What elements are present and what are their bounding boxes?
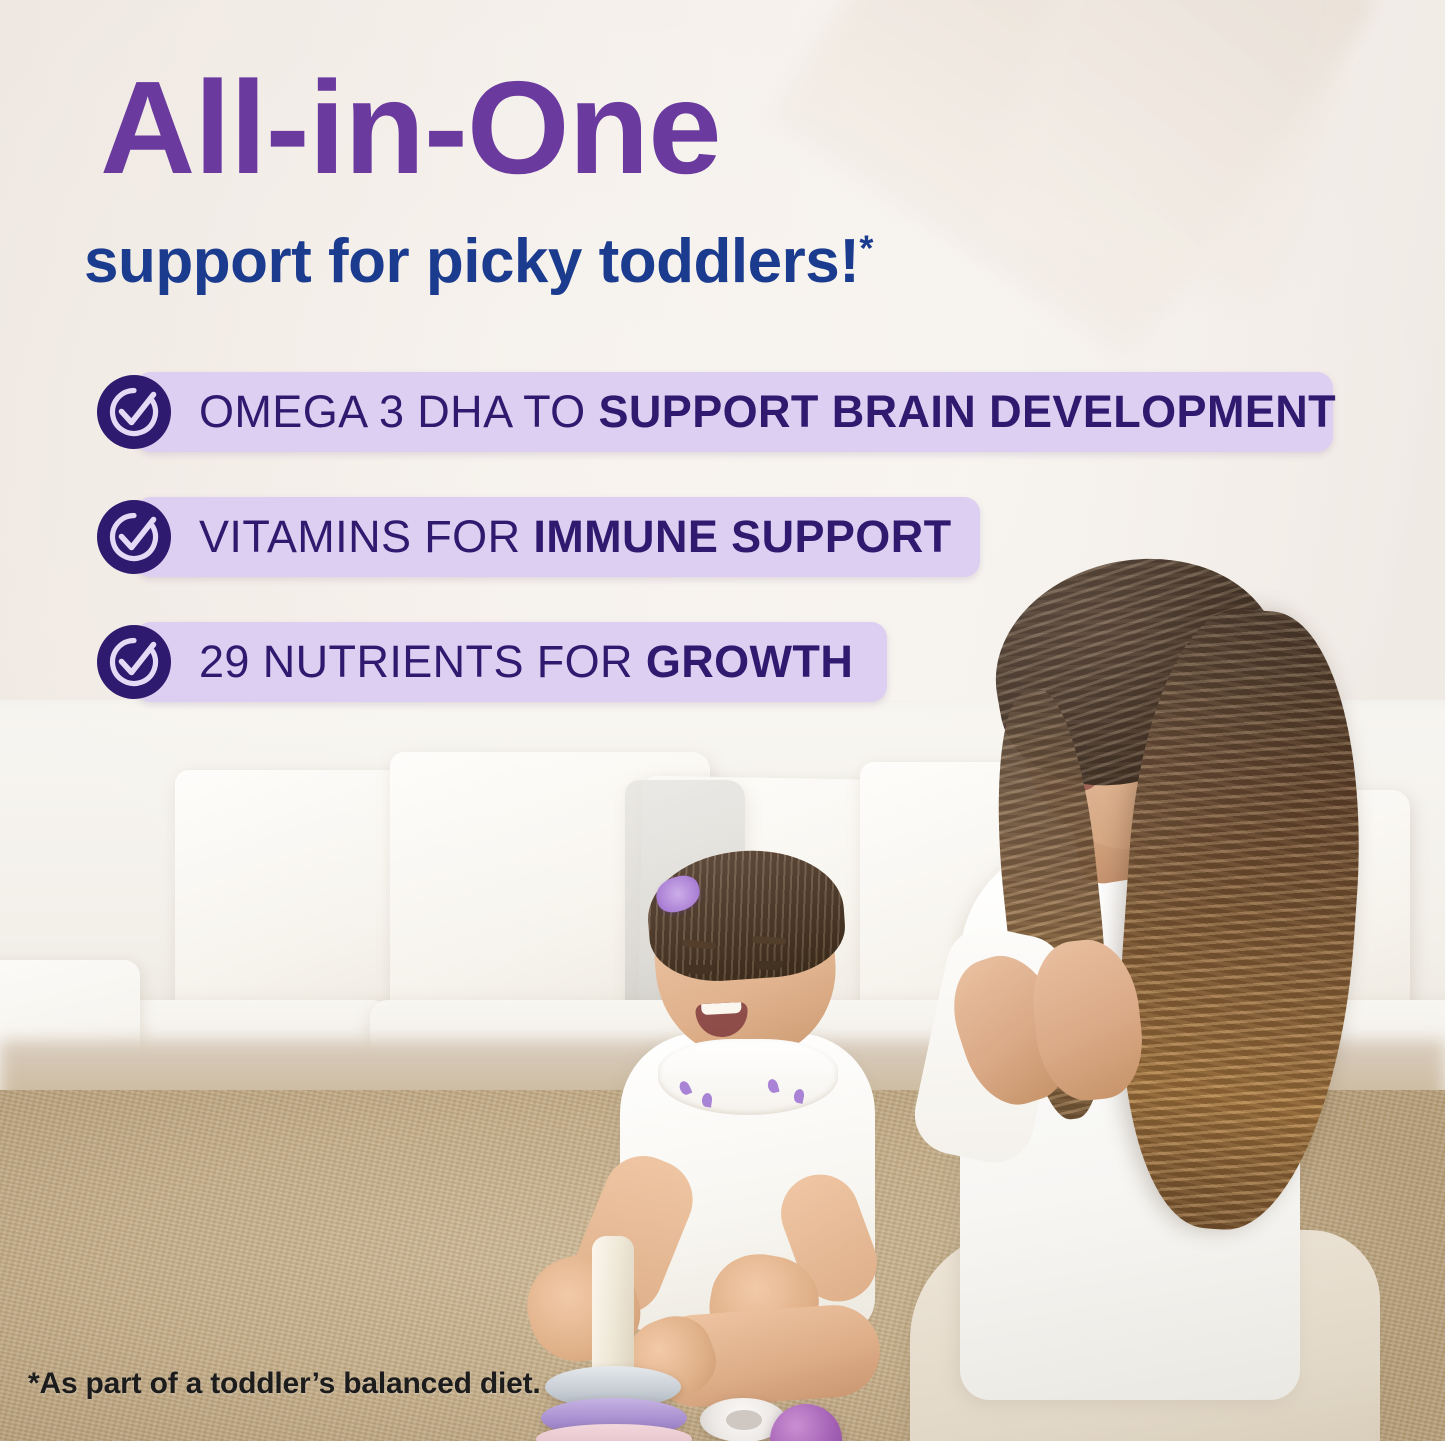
benefit-text: VITAMINS FOR IMMUNE SUPPORT <box>199 511 952 563</box>
check-circle-icon <box>95 373 173 451</box>
benefit-item-nutrients: 29 NUTRIENTS FOR GROWTH <box>95 616 1355 708</box>
benefit-text-regular: 29 NUTRIENTS FOR <box>199 636 646 687</box>
toddler-collar <box>658 1039 838 1115</box>
benefit-text: 29 NUTRIENTS FOR GROWTH <box>199 636 853 688</box>
benefit-list: OMEGA 3 DHA TO SUPPORT BRAIN DEVELOPMENT… <box>95 366 1355 741</box>
toddler-figure <box>500 855 930 1441</box>
benefit-text: OMEGA 3 DHA TO SUPPORT BRAIN DEVELOPMENT <box>199 386 1336 438</box>
toddler-eye <box>684 965 714 974</box>
benefit-text-bold: GROWTH <box>646 636 853 687</box>
subheadline-asterisk: * <box>859 227 873 268</box>
toddler-hair <box>644 844 848 985</box>
benefit-text-bold: IMMUNE SUPPORT <box>533 511 951 562</box>
check-circle-icon <box>95 623 173 701</box>
subheadline-text: support for picky toddlers! <box>84 227 859 296</box>
hair-texture <box>644 844 848 985</box>
benefit-item-omega: OMEGA 3 DHA TO SUPPORT BRAIN DEVELOPMENT <box>95 366 1355 458</box>
footnote-disclaimer: *As part of a toddler’s balanced diet. <box>28 1367 541 1401</box>
benefit-item-vitamins: VITAMINS FOR IMMUNE SUPPORT <box>95 491 1355 583</box>
subheadline: support for picky toddlers!* <box>84 226 873 297</box>
headline: All-in-One <box>100 62 721 194</box>
toddler-eye <box>754 961 784 970</box>
benefit-text-bold: SUPPORT BRAIN DEVELOPMENT <box>598 386 1336 437</box>
toddler-teeth <box>701 1002 742 1015</box>
benefit-text-regular: VITAMINS FOR <box>199 511 533 562</box>
collar-embroidery <box>701 1092 713 1107</box>
check-circle-icon <box>95 498 173 576</box>
toy-ring-white-hole <box>726 1410 762 1430</box>
benefit-text-regular: OMEGA 3 DHA TO <box>199 386 598 437</box>
product-feature-banner: All-in-One support for picky toddlers!* … <box>0 0 1445 1441</box>
